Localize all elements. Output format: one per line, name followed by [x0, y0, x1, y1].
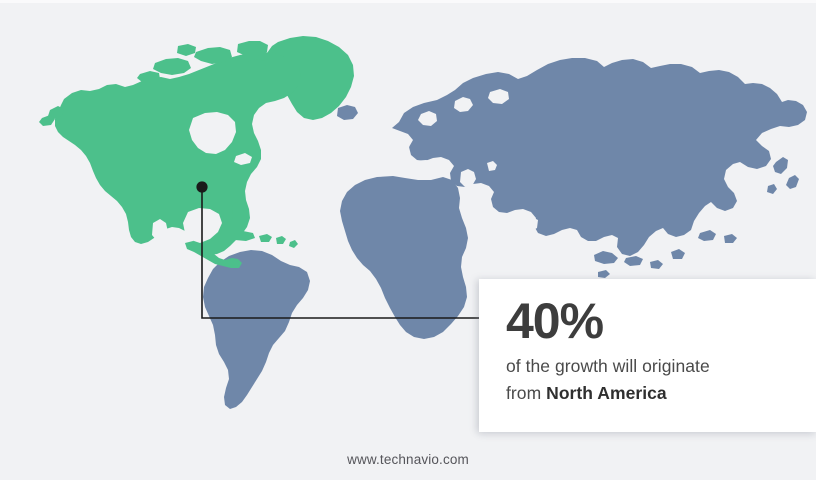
map-region-south-america — [203, 250, 310, 409]
map-region-southeast-asia-islands — [594, 230, 737, 278]
callout-card: 40% of the growth will originate from No… — [479, 279, 816, 432]
callout-line-2: from North America — [506, 380, 792, 407]
source-url: www.technavio.com — [0, 452, 816, 467]
callout-percent-value: 40% — [506, 295, 792, 347]
callout-line-2-prefix: from — [506, 383, 546, 403]
callout-region-name: North America — [546, 383, 667, 403]
map-region-north-america — [39, 41, 301, 268]
map-region-japan — [767, 157, 799, 194]
infographic-canvas: 40% of the growth will originate from No… — [0, 0, 816, 480]
map-region-iceland — [337, 105, 358, 120]
callout-line-1: of the growth will originate — [506, 353, 792, 380]
map-region-africa — [340, 176, 500, 339]
